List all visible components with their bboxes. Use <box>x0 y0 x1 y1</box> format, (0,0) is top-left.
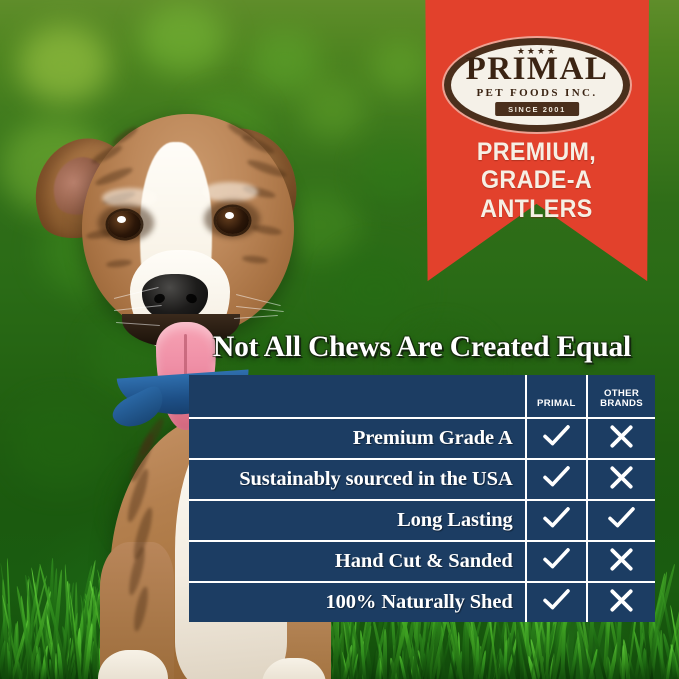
comparison-cell <box>586 417 655 458</box>
header-primal-cell: PRIMAL <box>525 375 586 417</box>
logo-wordmark: PRIMAL <box>444 53 630 86</box>
product-infographic: ★★★★ PRIMAL ™ PET FOODS INC. SINCE 2001 … <box>0 0 679 679</box>
feature-label: Hand Cut & Sanded <box>189 540 525 581</box>
dog-eye-glint-left <box>117 216 126 223</box>
comparison-cell <box>586 458 655 499</box>
comparison-cell <box>525 458 586 499</box>
banner-tagline-line-1: PREMIUM, <box>432 138 641 166</box>
primal-logo: ★★★★ PRIMAL ™ PET FOODS INC. SINCE 2001 <box>444 38 630 132</box>
grass-blade <box>426 642 430 679</box>
logo-trademark-icon: ™ <box>610 60 617 67</box>
comparison-cell <box>586 581 655 622</box>
bokeh-blob <box>370 40 430 94</box>
cross-icon <box>609 424 634 449</box>
dog-brow-right <box>202 182 258 202</box>
cross-icon <box>609 588 634 613</box>
page-headline: Not All Chews Are Created Equal <box>186 333 658 363</box>
table-row: Hand Cut & Sanded <box>189 540 655 581</box>
cross-icon <box>609 547 634 572</box>
dog-eye-right <box>216 207 249 234</box>
check-icon <box>543 507 570 529</box>
banner-tagline-line-3: ANTLERS <box>432 195 641 223</box>
comparison-table: PRIMALOTHERBRANDSPremium Grade ASustaina… <box>189 375 655 622</box>
header-other-cell: OTHERBRANDS <box>586 375 655 417</box>
check-icon <box>608 507 635 529</box>
check-icon <box>543 548 570 570</box>
table-row: Sustainably sourced in the USA <box>189 458 655 499</box>
logo-subtitle: PET FOODS INC. <box>444 88 630 99</box>
feature-label: Long Lasting <box>189 499 525 540</box>
comparison-cell <box>525 581 586 622</box>
table-row: Premium Grade A <box>189 417 655 458</box>
feature-label: Sustainably sourced in the USA <box>189 458 525 499</box>
table-row: 100% Naturally Shed <box>189 581 655 622</box>
logo-since-ribbon: SINCE 2001 <box>495 102 579 116</box>
cross-icon <box>609 465 634 490</box>
check-icon <box>543 425 570 447</box>
table-row: Long Lasting <box>189 499 655 540</box>
bokeh-blob <box>360 140 430 204</box>
comparison-cell <box>586 499 655 540</box>
header-other-label: OTHERBRANDS <box>588 389 655 417</box>
comparison-table-body: PRIMALOTHERBRANDSPremium Grade ASustaina… <box>189 375 655 622</box>
banner-tagline: PREMIUM, GRADE-A ANTLERS <box>424 138 649 223</box>
feature-label: 100% Naturally Shed <box>189 581 525 622</box>
check-icon <box>543 589 570 611</box>
dog-eye-glint-right <box>225 212 234 219</box>
comparison-cell <box>525 417 586 458</box>
table-header-row: PRIMALOTHERBRANDS <box>189 375 655 417</box>
comparison-cell <box>525 540 586 581</box>
comparison-cell <box>586 540 655 581</box>
feature-label: Premium Grade A <box>189 417 525 458</box>
dog-eye-left <box>108 211 141 238</box>
banner-tagline-line-2: GRADE-A <box>432 166 641 194</box>
header-feature-cell <box>189 375 525 417</box>
check-icon <box>543 466 570 488</box>
comparison-cell <box>525 499 586 540</box>
header-primal-label: PRIMAL <box>527 399 586 417</box>
